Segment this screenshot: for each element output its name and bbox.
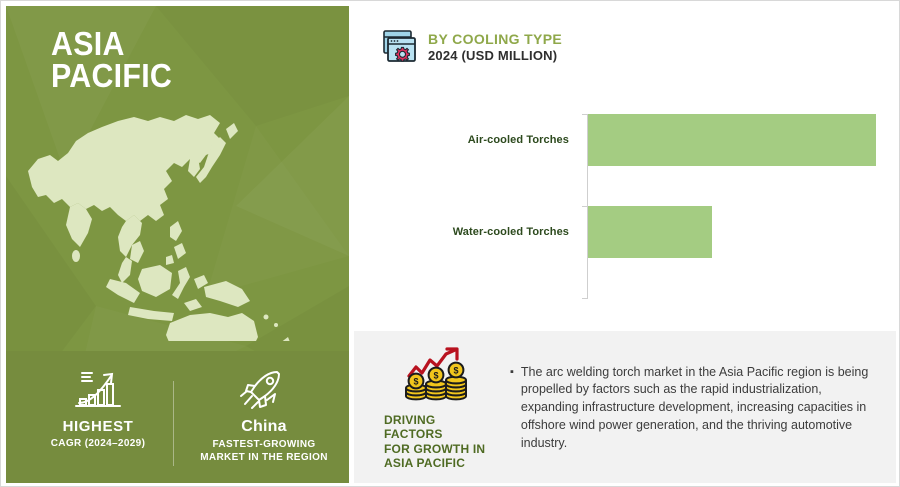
stat-cagr-period: CAGR (2024–2029) <box>24 438 172 451</box>
driving-factors-text-block: ▪ The arc welding torch market in the As… <box>496 362 882 453</box>
coins-growth-arrow-icon: $ $ <box>376 344 496 406</box>
bar-label: Air-cooled Torches <box>361 134 579 146</box>
rocket-icon <box>184 364 344 412</box>
growth-bar-chart-arrow-icon <box>24 364 172 412</box>
bar-air-cooled[interactable] <box>588 114 876 166</box>
svg-text:$: $ <box>433 371 438 381</box>
axis-tick <box>582 298 587 299</box>
stat-fastest-growing-country: China FASTEST-GROWING MARKET IN THE REGI… <box>184 364 344 464</box>
stat-divider <box>173 381 174 466</box>
region-panel: ASIA PACIFIC <box>6 6 349 483</box>
bar-row-water-cooled[interactable]: Water-cooled Torches <box>361 206 891 258</box>
bullet-marker: ▪ <box>510 364 514 453</box>
chart-subtitle: 2024 (USD MILLION) <box>428 48 562 63</box>
asia-pacific-map-icon <box>14 111 344 341</box>
infographic-root: ASIA PACIFIC <box>0 0 900 487</box>
chart-header: BY COOLING TYPE 2024 (USD MILLION) <box>379 27 562 67</box>
driving-factors-heading-block: $ $ <box>376 344 496 470</box>
bar-label: Water-cooled Torches <box>361 226 579 238</box>
stat-country-label: China <box>184 418 344 436</box>
stat-highest-label: HIGHEST <box>24 418 172 435</box>
svg-text:$: $ <box>413 377 418 387</box>
bar-chart: Air-cooled Torches Water-cooled Torches <box>361 101 891 311</box>
stat-country-descriptor: FASTEST-GROWING MARKET IN THE REGION <box>184 439 344 464</box>
bar-row-air-cooled[interactable]: Air-cooled Torches <box>361 114 891 166</box>
driving-factors-label: DRIVING FACTORS FOR GROWTH IN ASIA PACIF… <box>376 413 496 470</box>
stat-highest-cagr: HIGHEST CAGR (2024–2029) <box>24 364 172 451</box>
chart-title: BY COOLING TYPE <box>428 31 562 48</box>
driving-factors-panel: $ $ <box>354 331 896 483</box>
driving-factors-body: The arc welding torch market in the Asia… <box>521 364 882 453</box>
page-title: ASIA PACIFIC <box>51 28 172 93</box>
bar-water-cooled[interactable] <box>588 206 712 258</box>
browser-windows-gear-icon <box>379 27 419 67</box>
svg-text:$: $ <box>453 366 458 376</box>
